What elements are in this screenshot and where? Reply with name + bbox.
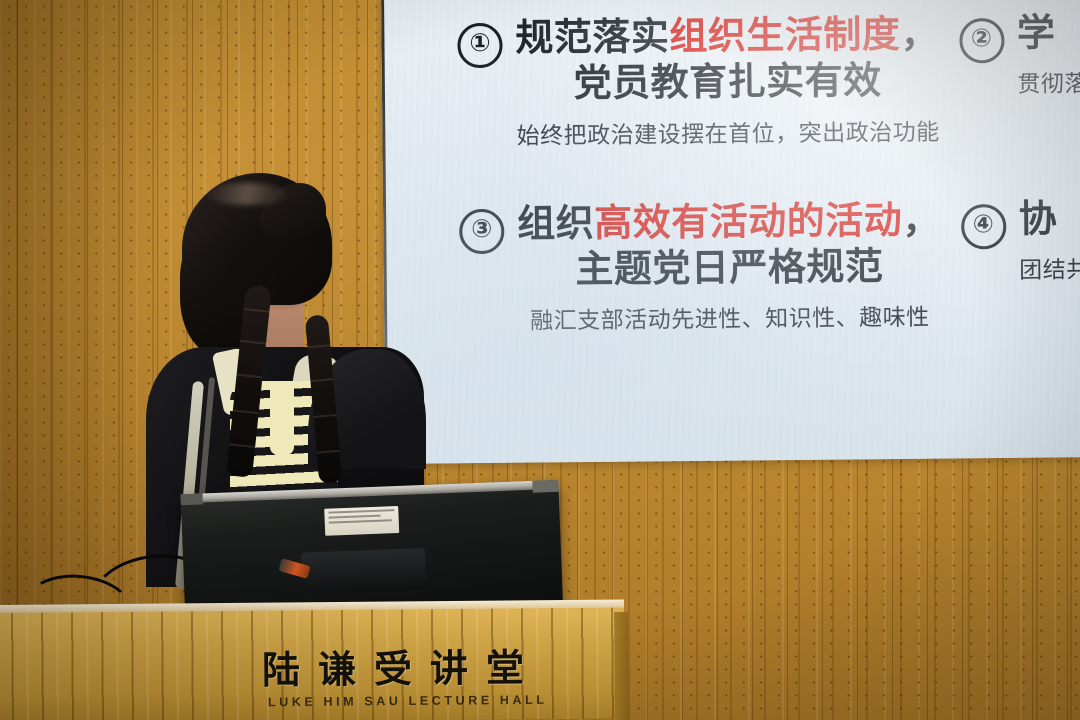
lecture-hall-scene: ① 规范落实组织生活制度， 党员教育扎实有效 始终把政治建设摆在首位，突出政治功… xyxy=(0,0,1080,720)
shirt-placket xyxy=(270,381,294,455)
slide-item-4-marker: ④ xyxy=(961,204,1006,249)
slide-item-3-headline-1-post: ， xyxy=(902,197,941,241)
slide-item-2-subtitle: 贯彻落 xyxy=(1017,65,1080,100)
slide-item-3-subtitle: 融汇支部活动先进性、知识性、趣味性 xyxy=(518,298,942,336)
presentation-slide: ① 规范落实组织生活制度， 党员教育扎实有效 始终把政治建设摆在首位，突出政治功… xyxy=(381,0,1080,464)
slide-item-1-subtitle: 始终把政治建设摆在首位，突出政治功能 xyxy=(516,112,940,150)
slide-item-1-body: 规范落实组织生活制度， 党员教育扎实有效 始终把政治建设摆在首位，突出政治功能 xyxy=(515,11,940,151)
slide-item-3-headline-2: 主题党日严格规范 xyxy=(517,243,941,293)
slide-item-1-marker: ① xyxy=(457,23,502,68)
podium-hall-name-zh: 陆谦受讲堂 xyxy=(262,637,542,694)
slide-item-1-headline-2: 党员教育扎实有效 xyxy=(516,57,940,107)
monitor-stand xyxy=(301,548,426,593)
slide-item-1-headline-1-highlight: 组织生活制度 xyxy=(669,12,900,58)
hair-highlight xyxy=(206,183,288,205)
slide-row-top: ① 规范落实组织生活制度， 党员教育扎实有效 始终把政治建设摆在首位，突出政治功… xyxy=(381,9,1080,151)
podium-hall-name-en: LUKE HIM SAU LECTURE HALL xyxy=(268,693,548,709)
projection-screen: ① 规范落实组织生活制度， 党员教育扎实有效 始终把政治建设摆在首位，突出政治功… xyxy=(381,0,1080,464)
slide-item-2-marker: ② xyxy=(959,18,1004,63)
monitor-corner-left xyxy=(181,493,203,505)
slide-item-3-headline-1: 组织高效有活动的活动， xyxy=(517,196,941,246)
slide-item-4-headline-1: 协 xyxy=(1018,195,1080,242)
slide-row-bottom: ③ 组织高效有活动的活动， 主题党日严格规范 融汇支部活动先进性、知识性、趣味性… xyxy=(383,195,1080,337)
slide-item-3-body: 组织高效有活动的活动， 主题党日严格规范 融汇支部活动先进性、知识性、趣味性 xyxy=(517,196,942,336)
slide-item-1-headline-1-post: ， xyxy=(900,12,939,56)
slide-item-2: ② 学 贯彻落 xyxy=(945,9,1080,100)
slide-item-3-headline-1-highlight: 高效有活动的活动 xyxy=(594,198,902,245)
monitor-spec-label xyxy=(324,506,399,536)
slide-item-4-body: 协 团结共 xyxy=(1018,195,1080,285)
slide-item-3: ③ 组织高效有活动的活动， 主题党日严格规范 融汇支部活动先进性、知识性、趣味性 xyxy=(383,196,948,337)
slide-item-3-marker: ③ xyxy=(459,209,504,254)
slide-item-2-body: 学 贯彻落 xyxy=(1017,9,1080,99)
podium-right-side xyxy=(614,612,629,720)
slide-item-3-headline-1-pre: 组织 xyxy=(517,201,594,246)
slide-item-1-headline-1-pre: 规范落实 xyxy=(515,14,669,59)
monitor-corner-right xyxy=(532,480,558,493)
slide-item-4: ④ 协 团结共 xyxy=(946,195,1080,286)
slide-item-2-headline-1: 学 xyxy=(1017,9,1080,56)
slide-item-4-subtitle: 团结共 xyxy=(1019,250,1080,285)
slide-item-1: ① 规范落实组织生活制度， 党员教育扎实有效 始终把政治建设摆在首位，突出政治功… xyxy=(381,11,946,152)
slide-item-1-headline-1: 规范落实组织生活制度， xyxy=(515,11,939,61)
